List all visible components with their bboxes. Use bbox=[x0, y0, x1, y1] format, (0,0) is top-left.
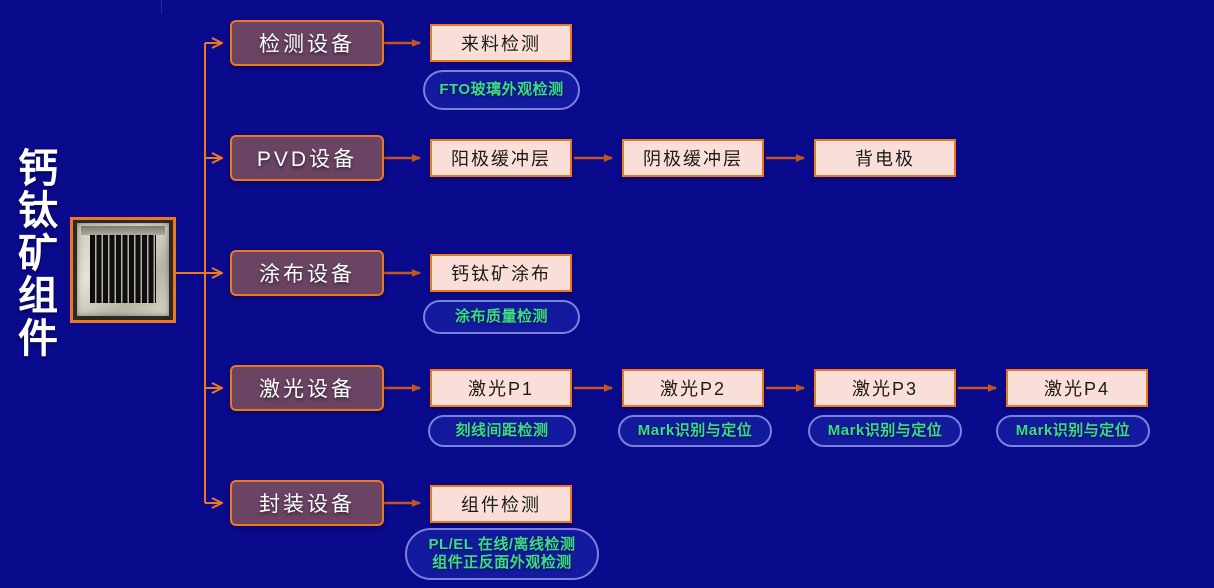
equipment-box-inspection[interactable]: 检测设备 bbox=[230, 20, 384, 66]
pill-line: 组件正反面外观检测 bbox=[432, 554, 572, 572]
pill-line: Mark识别与定位 bbox=[638, 422, 753, 440]
connector-lines bbox=[0, 0, 1214, 588]
pill-line: FTO玻璃外观检测 bbox=[439, 81, 563, 99]
inspection-pill-coating-quality[interactable]: 涂布质量检测 bbox=[423, 300, 580, 334]
equipment-box-pvd[interactable]: PVD设备 bbox=[230, 135, 384, 181]
process-box-anode-buffer[interactable]: 阳极缓冲层 bbox=[430, 139, 572, 177]
equipment-box-laser[interactable]: 激光设备 bbox=[230, 365, 384, 411]
process-box-incoming-inspection[interactable]: 来料检测 bbox=[430, 24, 572, 62]
process-box-laser-p1[interactable]: 激光P1 bbox=[430, 369, 572, 407]
process-flow-diagram: 钙钛矿组件 bbox=[0, 0, 1214, 588]
pill-line: Mark识别与定位 bbox=[828, 422, 943, 440]
equipment-box-coating[interactable]: 涂布设备 bbox=[230, 250, 384, 296]
pill-line: 刻线间距检测 bbox=[455, 422, 548, 440]
process-box-laser-p2[interactable]: 激光P2 bbox=[622, 369, 764, 407]
inspection-pill-fto-glass[interactable]: FTO玻璃外观检测 bbox=[423, 70, 580, 110]
process-box-module-inspection[interactable]: 组件检测 bbox=[430, 485, 572, 523]
process-box-laser-p4[interactable]: 激光P4 bbox=[1006, 369, 1148, 407]
pill-line: PL/EL 在线/离线检测 bbox=[428, 536, 575, 554]
process-box-laser-p3[interactable]: 激光P3 bbox=[814, 369, 956, 407]
pill-line: Mark识别与定位 bbox=[1016, 422, 1131, 440]
process-box-perovskite-coating[interactable]: 钙钛矿涂布 bbox=[430, 254, 572, 292]
pill-line: 涂布质量检测 bbox=[455, 308, 548, 326]
process-box-cathode-buffer[interactable]: 阴极缓冲层 bbox=[622, 139, 764, 177]
inspection-pill-mark-locate-p3[interactable]: Mark识别与定位 bbox=[808, 415, 962, 447]
inspection-pill-mark-locate-p4[interactable]: Mark识别与定位 bbox=[996, 415, 1150, 447]
inspection-pill-mark-locate-p2[interactable]: Mark识别与定位 bbox=[618, 415, 772, 447]
process-box-back-electrode[interactable]: 背电极 bbox=[814, 139, 956, 177]
inspection-pill-pl-el[interactable]: PL/EL 在线/离线检测 组件正反面外观检测 bbox=[405, 528, 599, 580]
equipment-box-encapsulation[interactable]: 封装设备 bbox=[230, 480, 384, 526]
inspection-pill-scribe-spacing[interactable]: 刻线间距检测 bbox=[428, 415, 576, 447]
